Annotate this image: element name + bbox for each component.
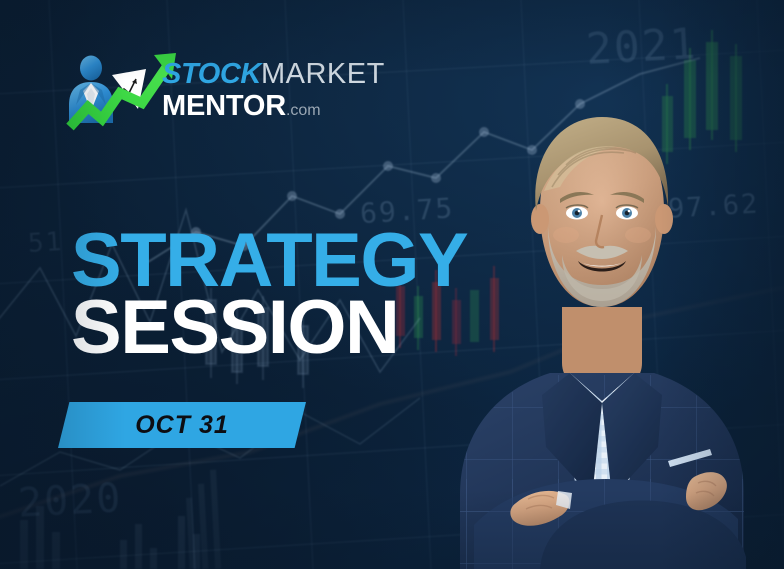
headline-line-strategy: STRATEGY [71,228,467,293]
logo-word-mentor: MENTOR [162,90,286,122]
date-badge[interactable]: OCT 31 [58,402,306,448]
background-number-2021: 2021 [585,19,699,75]
smiling-man-crossed-arms-illustration [420,95,784,569]
logo-wordmark: STOCKMARKET MENTOR.com [162,59,382,126]
background-number-2020: 2020 [17,475,124,526]
stock-market-mentor-logo[interactable]: STOCKMARKET MENTOR.com [50,43,335,143]
logo-word-stock: STOCK [162,58,261,90]
date-badge-label: OCT 31 [135,411,229,440]
presenter-photo [420,95,784,569]
headline-line-session: SESSION [71,295,467,360]
background-number-51: 51 [27,227,64,259]
logo-word-market: MARKET [261,58,385,90]
logo-word-com: .com [286,102,321,119]
strategy-session-banner: 2021 69.75 97.62 2020 51 [0,0,784,569]
page-title: STRATEGY SESSION [71,228,467,361]
